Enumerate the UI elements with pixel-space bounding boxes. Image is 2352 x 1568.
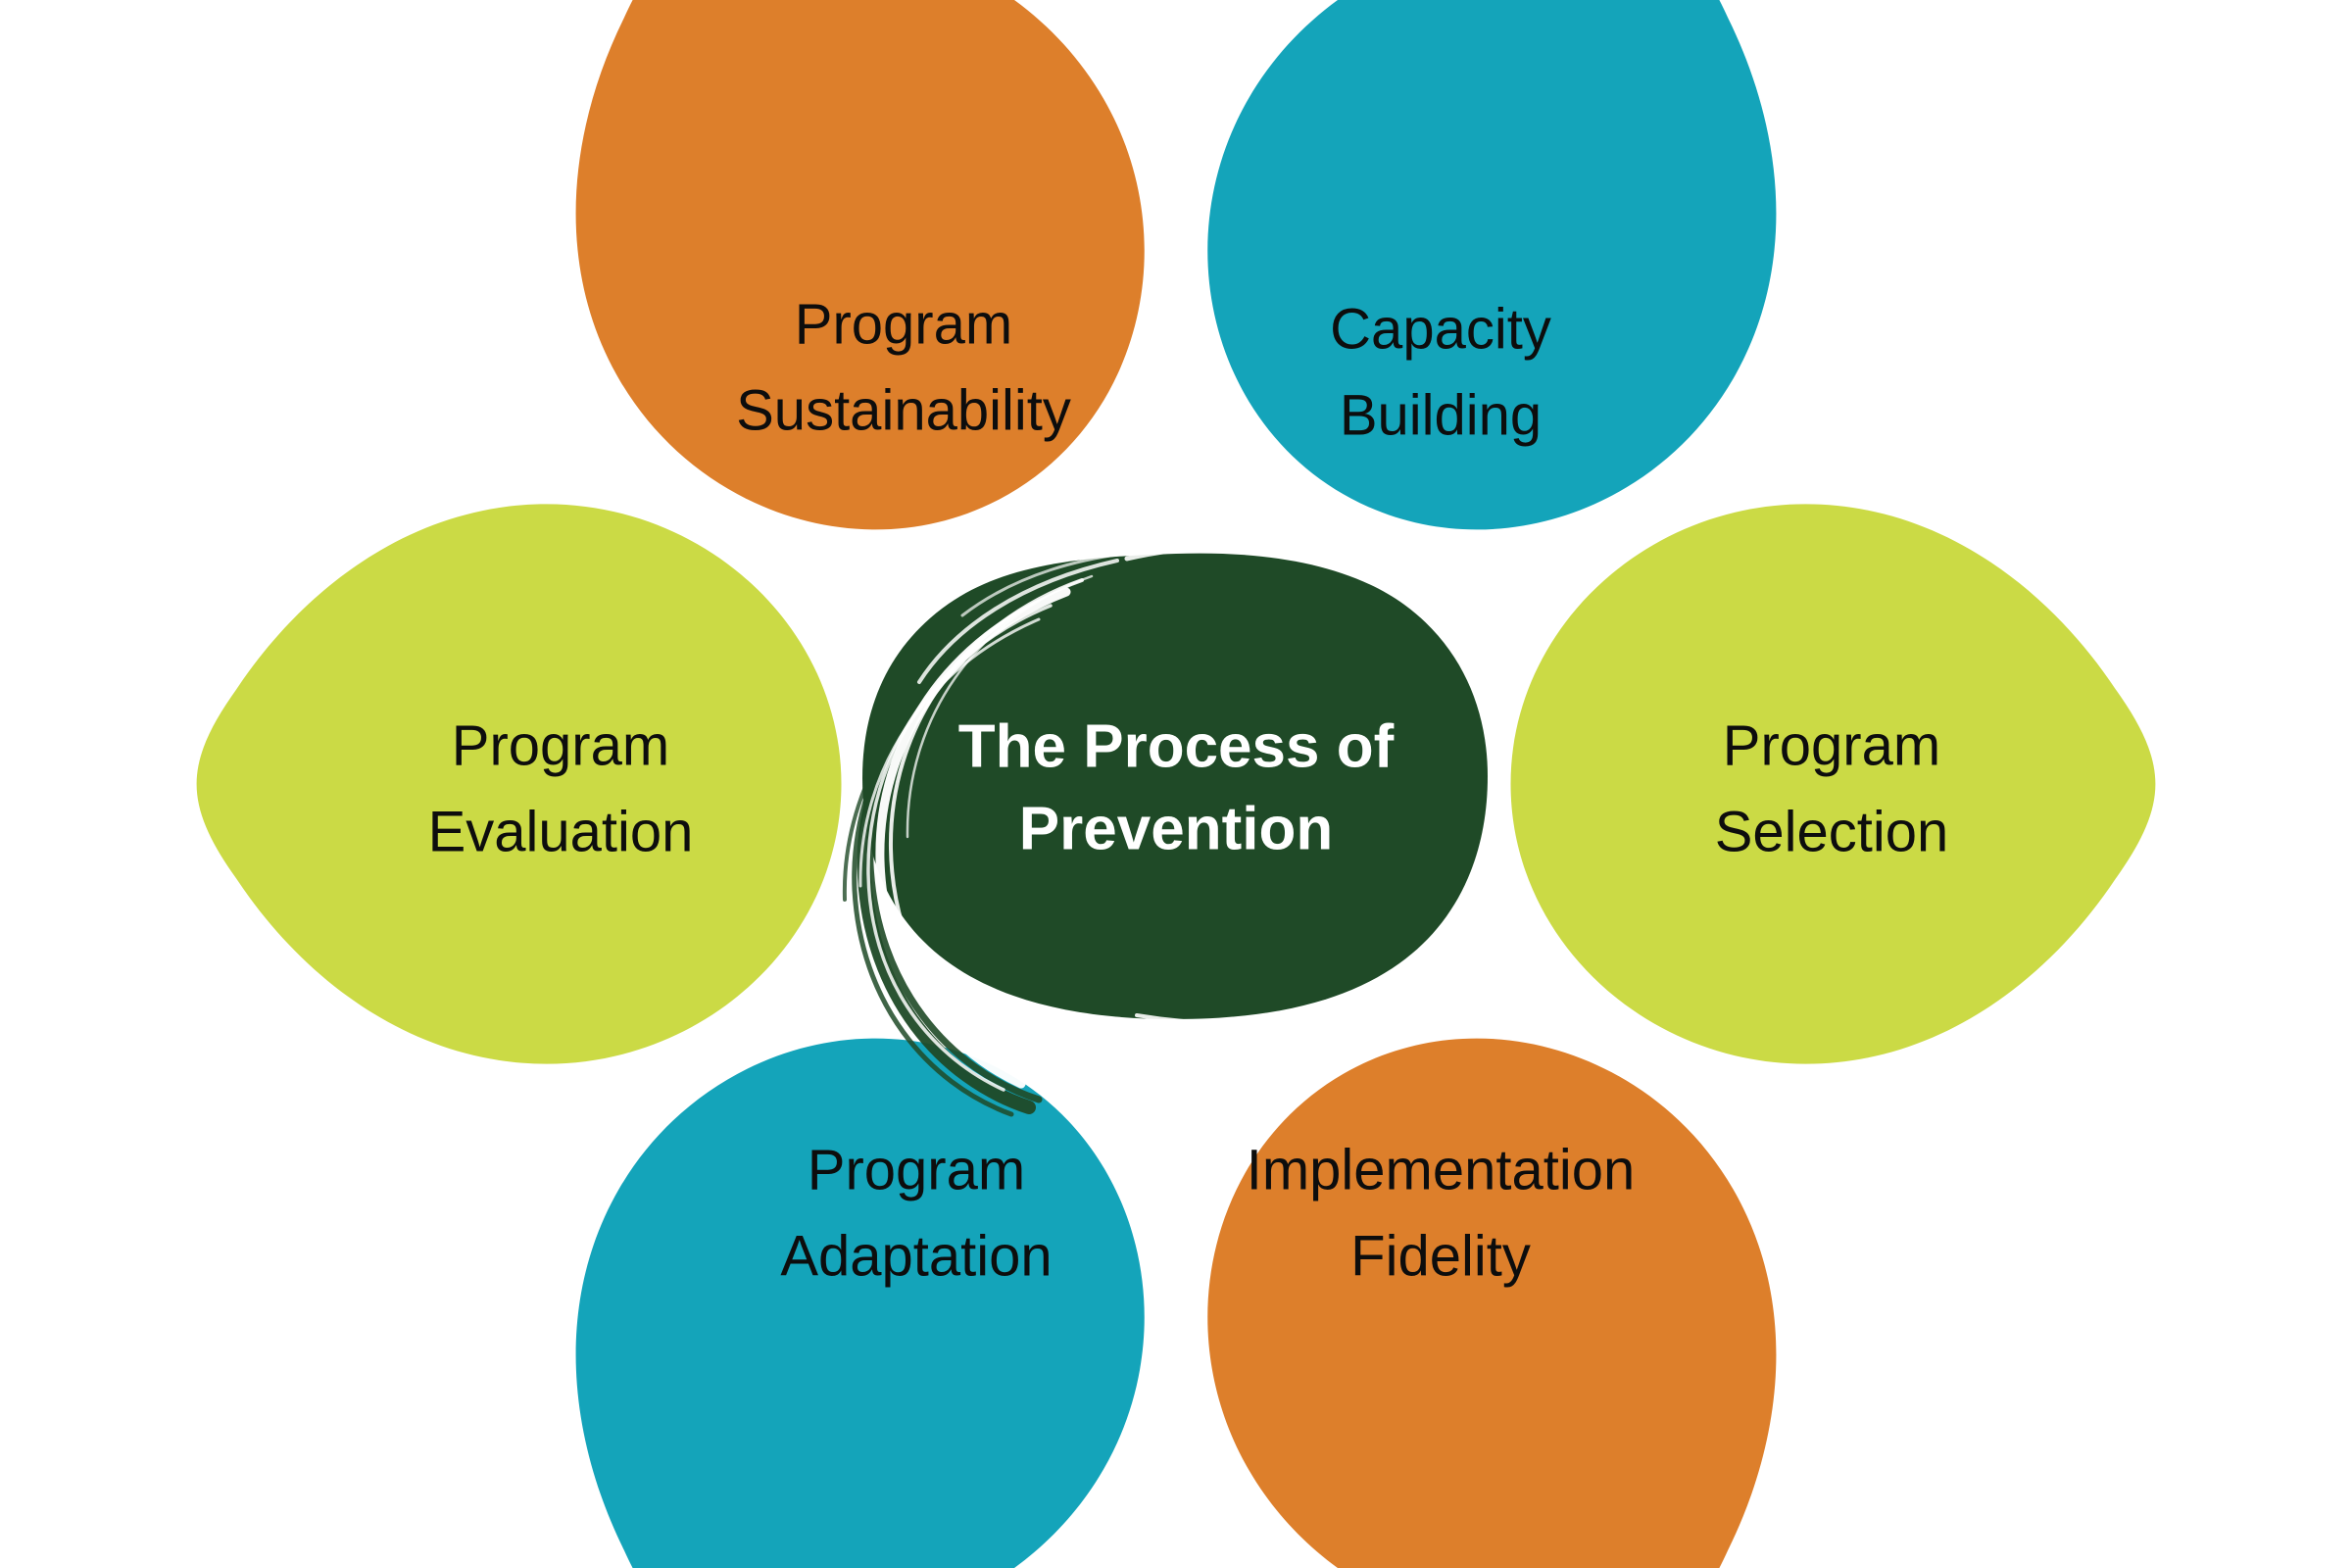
label-capacity-building-line2: Building [1340,383,1542,447]
label-implementation-fidelity-line1: Implementation [1247,1138,1636,1201]
label-program-sustainability-line1: Program [795,292,1012,356]
center-title-line1: The Process of [958,712,1395,780]
label-program-adaptation-line1: Program [808,1138,1025,1201]
label-program-adaptation-line2: Adaptation [780,1224,1052,1288]
center-hub[interactable]: The Process of Prevention [845,538,1488,1114]
flower-diagram-canvas: The Process of Prevention Program Sustai… [0,0,2352,1568]
label-capacity-building-line1: Capacity [1330,297,1551,361]
label-program-evaluation-line1: Program [452,713,669,777]
label-implementation-fidelity-line2: Fidelity [1350,1224,1531,1288]
petal-program-evaluation[interactable] [197,504,842,1063]
center-title-line2: Prevention [1019,795,1333,862]
prevention-process-diagram: The Process of Prevention Program Sustai… [0,0,2352,1568]
petal-shape-lime-right [1511,504,2156,1063]
center-blob-shape [862,554,1488,1019]
label-program-selection-line2: Selection [1715,800,1949,863]
label-program-selection-line1: Program [1723,713,1940,777]
label-program-sustainability-line2: Sustainability [736,378,1071,442]
petal-shape-lime-left [197,504,842,1063]
label-program-evaluation-line2: Evaluation [428,800,694,863]
petal-program-selection[interactable] [1511,504,2156,1063]
